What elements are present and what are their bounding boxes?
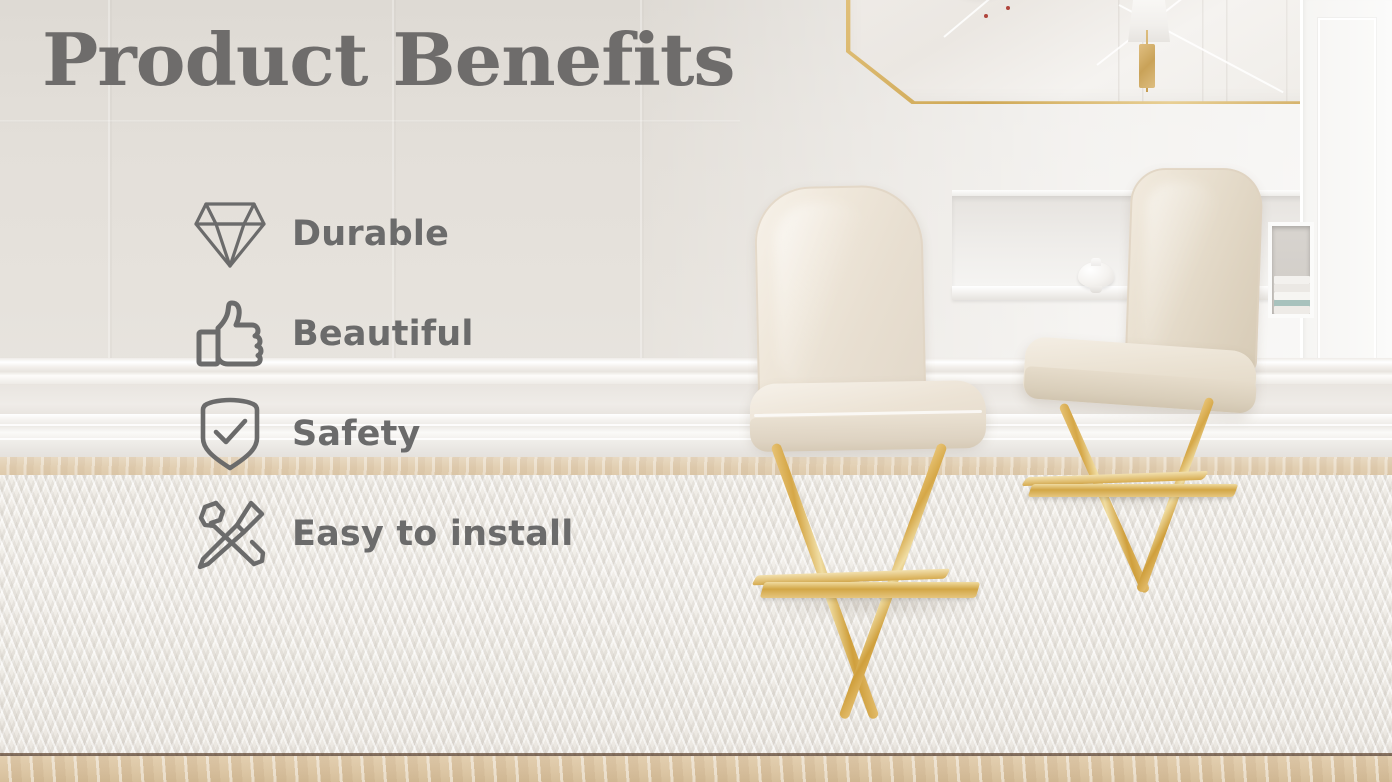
wall-upper-moulding — [0, 120, 740, 123]
benefit-label: Durable — [292, 214, 449, 254]
benefit-item-safety: Safety — [190, 396, 573, 472]
wood-floor — [0, 756, 1392, 782]
benefit-label: Beautiful — [292, 314, 474, 354]
chair-base-rail-front — [760, 582, 981, 598]
benefit-item-easy-to-install: Easy to install — [190, 496, 573, 572]
benefit-label: Safety — [292, 414, 421, 454]
page-title: Product Benefits — [42, 24, 735, 96]
benefits-list: Durable Beautiful Safety — [190, 196, 573, 572]
benefit-item-durable: Durable — [190, 196, 573, 272]
thumbs-up-icon — [190, 296, 270, 372]
wreath-berry — [1006, 6, 1010, 10]
wall-sconce-plate — [1139, 44, 1155, 88]
chair-backrest-piping — [1124, 168, 1263, 374]
chair-seat-edge — [750, 414, 987, 452]
chair-back-right — [1020, 168, 1280, 550]
benefit-item-beautiful: Beautiful — [190, 296, 573, 372]
diamond-icon — [190, 196, 270, 272]
shield-check-icon — [190, 396, 270, 472]
chair-front-left — [742, 186, 992, 622]
chair-base-rail-front — [1028, 484, 1239, 497]
chair-backrest-piping — [754, 184, 926, 403]
benefit-label: Easy to install — [292, 514, 573, 554]
wreath-berry — [984, 14, 988, 18]
wall-sconce-shade — [1128, 0, 1170, 42]
product-benefits-banner: Product Benefits Durable B — [0, 0, 1392, 782]
tools-icon — [190, 496, 270, 572]
